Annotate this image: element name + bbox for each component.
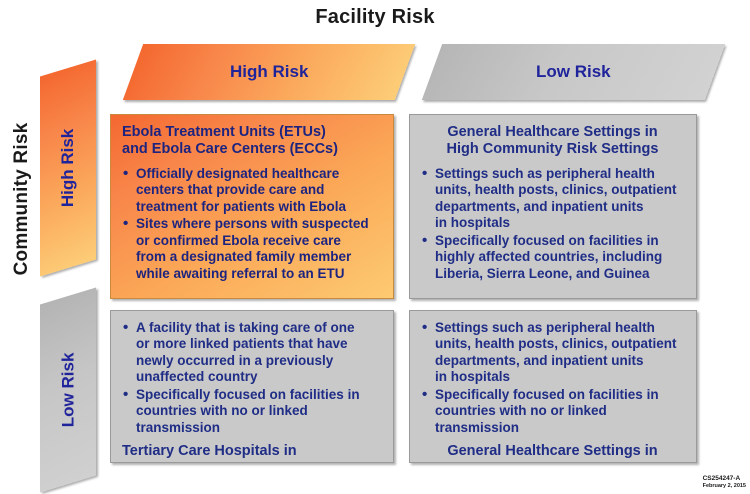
cell-heading: General Healthcare Settings in Unaffecte… (421, 437, 684, 463)
cell-heading: Tertiary Care Hospitals in Low Community… (122, 437, 381, 463)
document-code: CS254247-A (703, 475, 746, 482)
column-header-high-risk-label: High Risk (230, 62, 308, 82)
list-item: Sites where persons with suspected or co… (122, 216, 381, 282)
list-item: Settings such as peripheral health units… (421, 320, 684, 386)
cell-high-community-high-facility[interactable]: Ebola Treatment Units (ETUs) and Ebola C… (110, 114, 394, 299)
list-item: A facility that is taking care of one or… (122, 320, 381, 386)
cell-heading: Ebola Treatment Units (ETUs) and Ebola C… (122, 124, 381, 159)
list-item: Specifically focused on facilities in co… (122, 387, 381, 436)
cell-high-community-low-facility[interactable]: General Healthcare Settings in High Comm… (409, 114, 697, 299)
risk-matrix-diagram: Facility Risk Community Risk High Risk L… (0, 0, 750, 494)
cell-low-community-high-facility[interactable]: A facility that is taking care of one or… (110, 310, 394, 463)
row-header-low-risk[interactable]: Low Risk (40, 287, 96, 492)
cell-bullet-list: A facility that is taking care of one or… (122, 320, 381, 437)
cell-low-community-low-facility[interactable]: Settings such as peripheral health units… (409, 310, 697, 463)
list-item: Officially designated healthcare centers… (122, 166, 381, 215)
cell-bullet-list: Settings such as peripheral health units… (421, 320, 684, 437)
list-item: Specifically focused on facilities in hi… (421, 233, 684, 282)
document-date: February 2, 2015 (703, 483, 746, 489)
document-identifier: CS254247-A February 2, 2015 (703, 475, 746, 489)
community-risk-axis-title: Community Risk (11, 69, 33, 329)
column-header-low-risk[interactable]: Low Risk (422, 44, 725, 100)
cell-heading: General Healthcare Settings in High Comm… (421, 124, 684, 159)
column-header-low-risk-label: Low Risk (536, 62, 611, 82)
list-item: Specifically focused on facilities in co… (421, 387, 684, 436)
row-header-low-risk-label: Low Risk (58, 353, 78, 428)
row-header-high-risk-label: High Risk (58, 129, 78, 207)
column-header-high-risk[interactable]: High Risk (123, 44, 415, 100)
row-header-high-risk[interactable]: High Risk (40, 59, 96, 276)
list-item: Settings such as peripheral health units… (421, 166, 684, 232)
facility-risk-axis-title: Facility Risk (0, 6, 750, 29)
cell-bullet-list: Settings such as peripheral health units… (421, 166, 684, 283)
cell-bullet-list: Officially designated healthcare centers… (122, 166, 381, 283)
